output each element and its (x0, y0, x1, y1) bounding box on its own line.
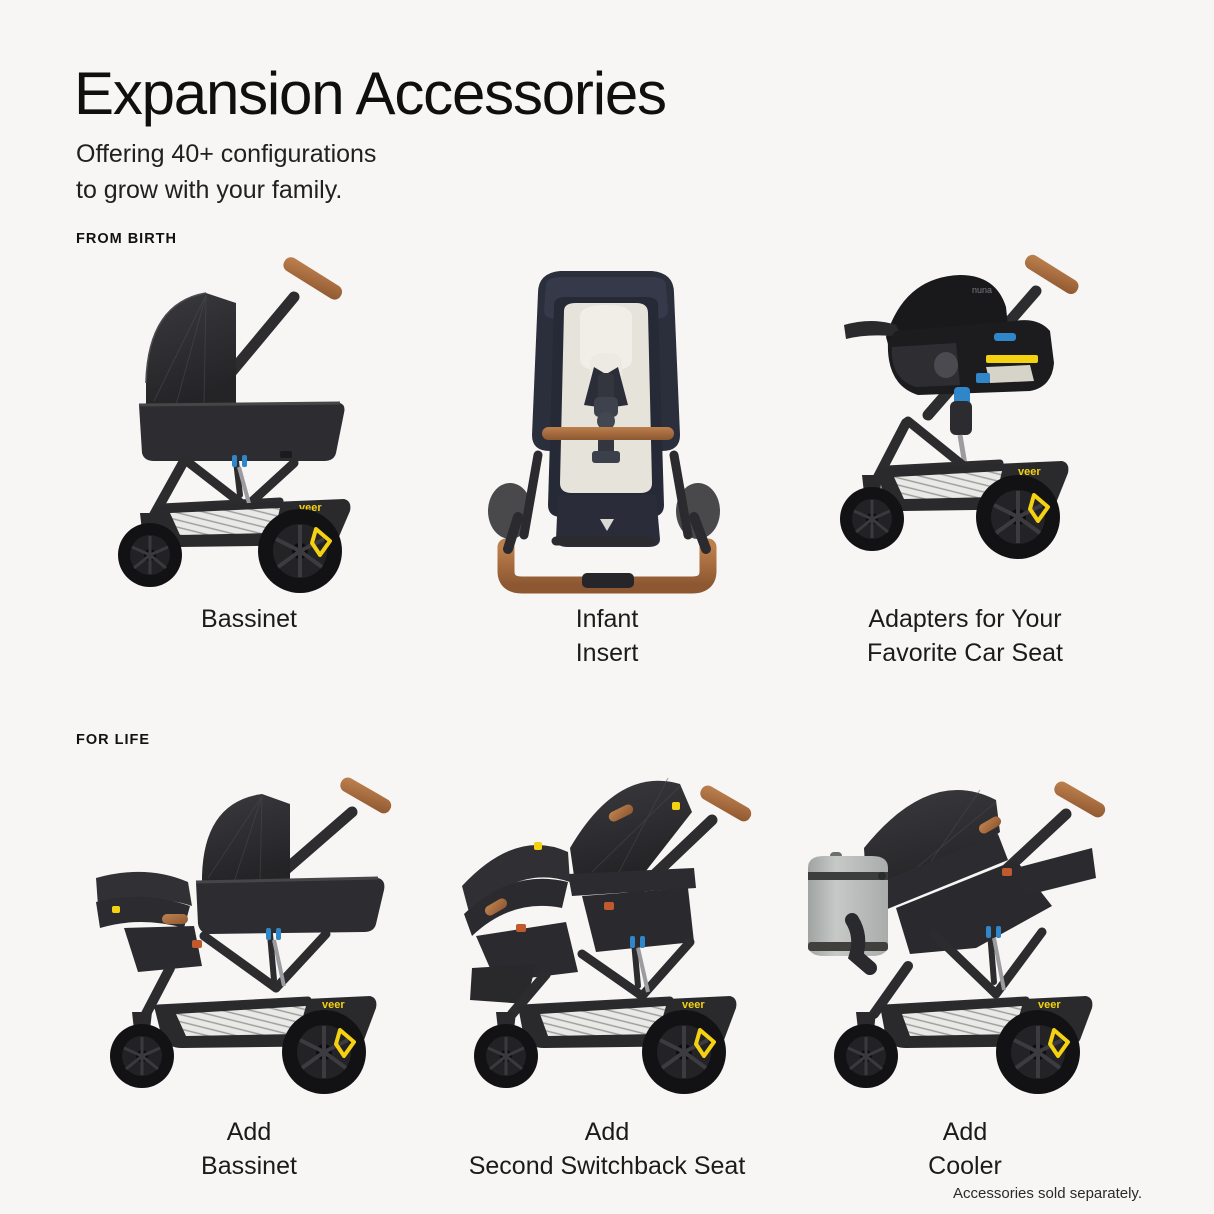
section-label-for-life: FOR LIFE (76, 732, 150, 748)
bumper-bar (542, 427, 674, 440)
rear-wheel (996, 1010, 1080, 1094)
cooler-zipper (808, 872, 888, 880)
footnote-disclaimer: Accessories sold separately. (953, 1185, 1142, 1202)
product-image-infant-insert (442, 255, 772, 595)
page-title: Expansion Accessories (74, 62, 666, 125)
adjuster-accent (232, 455, 237, 467)
rear-wheel (282, 1010, 366, 1094)
product-card-car-seat-adapters[interactable]: nuna (786, 255, 1144, 670)
product-card-add-second-seat[interactable]: veer (428, 756, 786, 1183)
rear-wheel (258, 509, 342, 593)
product-caption-bassinet: Bassinet (201, 603, 297, 637)
product-card-add-cooler[interactable]: veer (786, 756, 1144, 1183)
handle (506, 547, 708, 588)
cooler-bag (808, 852, 888, 956)
veer-logo: veer (682, 999, 705, 1011)
section-for-life-row: veer (70, 756, 1144, 1183)
bassinet-body (139, 403, 345, 461)
front-seat (462, 842, 578, 1004)
product-card-bassinet[interactable]: veer (70, 255, 428, 670)
product-caption-infant-insert: Infant Insert (576, 603, 639, 670)
veer-logo: veer (1038, 999, 1061, 1011)
expansion-accessories-page: Expansion Accessories Offering 40+ confi… (0, 0, 1214, 1214)
product-card-add-bassinet[interactable]: veer (70, 756, 428, 1183)
product-caption-add-cooler: Add Cooler (928, 1116, 1002, 1183)
section-from-birth-row: veer (70, 255, 1144, 670)
rear-wheel (642, 1010, 726, 1094)
infant-car-seat: nuna (844, 275, 1054, 395)
product-image-bassinet: veer (84, 255, 414, 595)
rear-wheel (976, 475, 1060, 559)
front-seat (96, 872, 202, 972)
product-image-add-second-seat: veer (442, 756, 772, 1096)
veer-logo: veer (322, 999, 345, 1011)
page-subtitle: Offering 40+ configurations to grow with… (76, 137, 376, 208)
product-caption-car-seat-adapters: Adapters for Your Favorite Car Seat (867, 603, 1063, 670)
product-card-infant-insert[interactable]: Infant Insert (428, 255, 786, 670)
product-image-car-seat-adapters: nuna (800, 255, 1130, 595)
section-label-from-birth: FROM BIRTH (76, 231, 177, 247)
product-image-add-bassinet: veer (84, 756, 414, 1096)
canopy (146, 293, 236, 407)
product-image-add-cooler: veer (800, 756, 1130, 1096)
product-caption-add-second-seat: Add Second Switchback Seat (469, 1116, 746, 1183)
rear-seat (568, 778, 696, 952)
product-caption-add-bassinet: Add Bassinet (201, 1116, 297, 1183)
nuna-logo: nuna (972, 285, 992, 295)
